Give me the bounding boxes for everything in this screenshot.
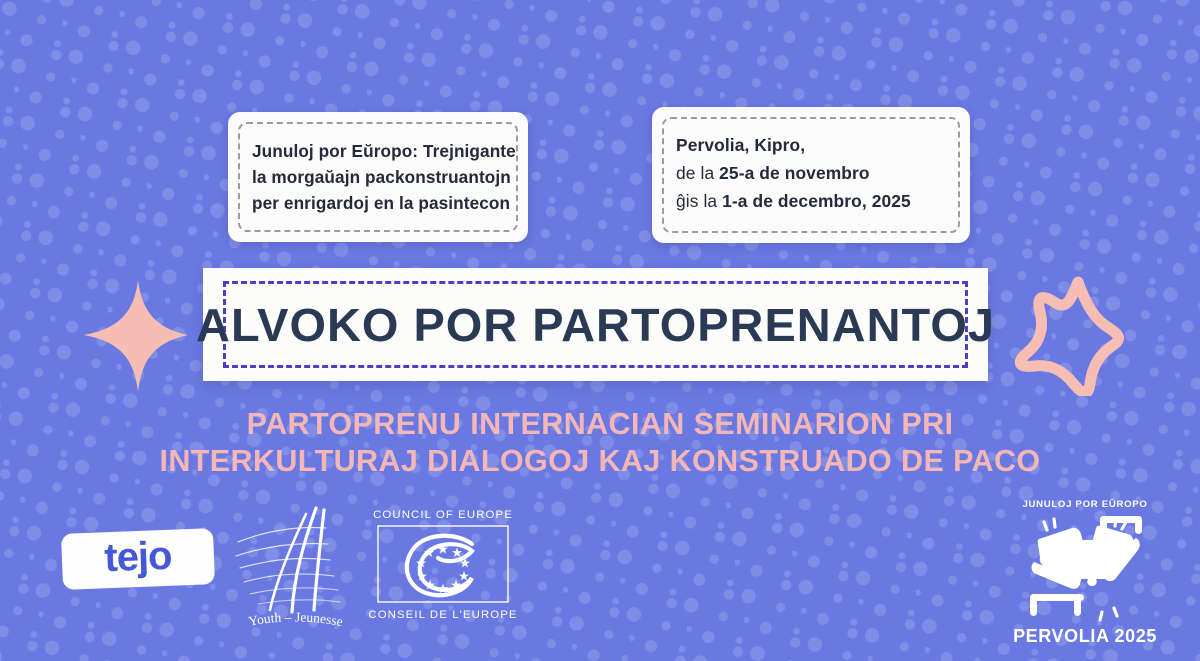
badge-bottom-text: PERVOLIA 2025 (1013, 626, 1157, 646)
pervolia-2025-badge: JUNULOJ POR EŬROPO (1012, 496, 1158, 648)
place-and-dates-text: Pervolia, Kipro, de la 25-a de novembro … (652, 107, 970, 239)
start-date-value: 25-a de novembro (719, 163, 869, 183)
event-end-date: ĝis la 1-a de decembro, 2025 (676, 187, 946, 215)
youth-jeunesse-caption: Youth – Jeunesse (247, 609, 344, 629)
theme-line-1: Junuloj por Eŭropo: Trejnigante (252, 138, 504, 164)
subtitle-block: PARTOPRENU INTERNACIAN SEMINARION PRI IN… (0, 406, 1200, 480)
svg-text:Youth – Jeunesse: Youth – Jeunesse (247, 609, 344, 629)
five-point-star-icon (1008, 272, 1130, 396)
subtitle-line-1: PARTOPRENU INTERNACIAN SEMINARION PRI (0, 406, 1200, 443)
event-location: Pervolia, Kipro, (676, 131, 946, 159)
council-of-europe-logo: COUNCIL OF EUROPE CONSEIL DE L'EUROPE (368, 506, 518, 624)
badge-top-text: JUNULOJ POR EŬROPO (1022, 498, 1147, 510)
end-date-prefix: ĝis la (676, 191, 722, 211)
poster-canvas: Junuloj por Eŭropo: Trejnigante la morga… (0, 0, 1200, 661)
coe-bottom-text: CONSEIL DE L'EUROPE (368, 609, 517, 621)
event-start-date: de la 25-a de novembro (676, 159, 946, 187)
theme-line-2: la morgaŭajn packonstruantojn (252, 164, 504, 190)
youth-jeunesse-logo: Youth – Jeunesse (234, 502, 362, 638)
tejo-logo: tejo (61, 528, 215, 590)
coe-top-text: COUNCIL OF EUROPE (373, 509, 513, 521)
place-and-dates-box: Pervolia, Kipro, de la 25-a de novembro … (652, 107, 970, 243)
end-date-value: 1-a de decembro, 2025 (722, 191, 911, 211)
page-title: ALVOKO POR PARTOPRENANTOJ (195, 268, 996, 381)
headline-banner: ALVOKO POR PARTOPRENANTOJ (203, 268, 988, 381)
four-point-sparkle-icon (78, 278, 192, 394)
seminar-theme-text: Junuloj por Eŭropo: Trejnigante la morga… (228, 112, 528, 240)
tejo-wordmark: tejo (104, 533, 173, 581)
start-date-prefix: de la (676, 163, 719, 183)
seminar-theme-box: Junuloj por Eŭropo: Trejnigante la morga… (228, 112, 528, 242)
subtitle-line-2: INTERKULTURAJ DIALOGOJ KAJ KONSTRUADO DE… (0, 443, 1200, 480)
theme-line-3: per enrigardoj en la pasintecon (252, 190, 504, 216)
